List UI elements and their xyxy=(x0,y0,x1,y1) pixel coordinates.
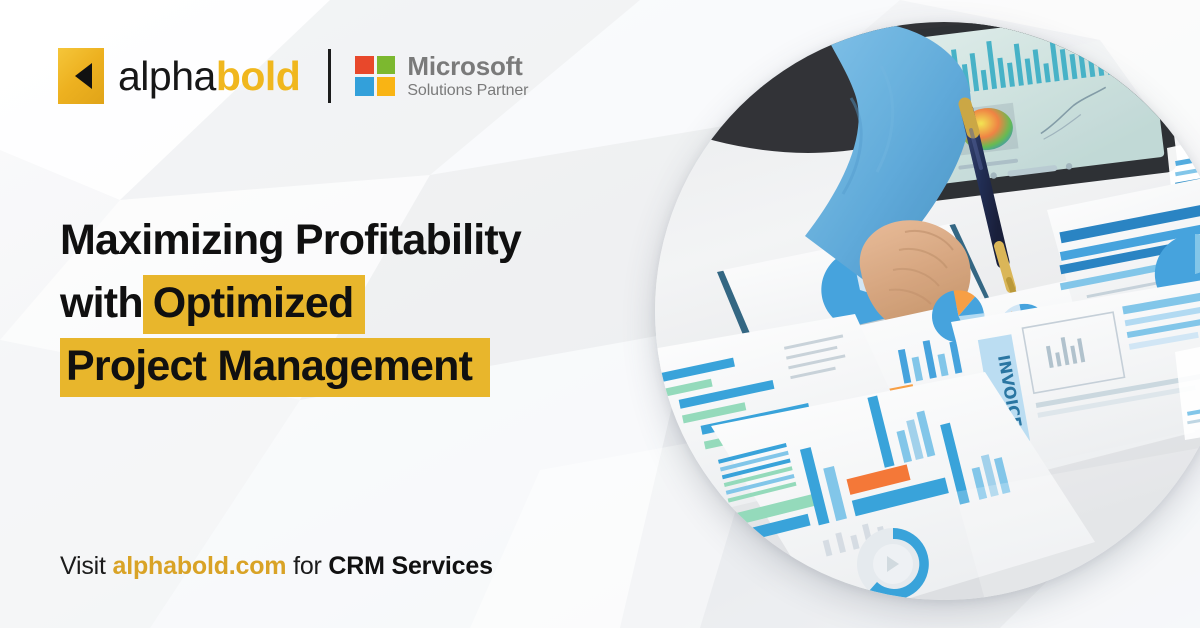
microsoft-solutions-partner-badge: Microsoft Solutions Partner xyxy=(355,52,528,99)
cta-text: Visit alphabold.com for CRM Services xyxy=(60,552,493,581)
cta-link[interactable]: alphabold.com xyxy=(113,552,287,580)
logo-divider xyxy=(328,49,331,103)
cta-prefix: Visit xyxy=(60,552,113,580)
alphabold-mark-icon xyxy=(58,48,104,104)
cta-middle: for xyxy=(286,552,328,580)
headline-line-1: Maximizing Profitability xyxy=(60,212,680,271)
headline-line-2: with Optimized xyxy=(60,275,680,334)
hero-photo-illustration: INVOICE xyxy=(655,22,1200,600)
header-logo-lockup: alphabold Microsoft Solutions Partner xyxy=(58,48,528,104)
microsoft-badge-text: Microsoft Solutions Partner xyxy=(407,52,528,99)
microsoft-square-yellow xyxy=(377,77,396,96)
wordmark-bold: bold xyxy=(216,53,301,99)
microsoft-subtitle: Solutions Partner xyxy=(407,82,528,100)
hero-photo: INVOICE xyxy=(655,22,1200,600)
alphabold-wordmark: alphabold xyxy=(118,56,300,97)
headline: Maximizing Profitability with Optimized … xyxy=(60,212,680,401)
microsoft-square-red xyxy=(355,56,374,75)
headline-line-1-text: Maximizing Profitability xyxy=(60,212,521,271)
headline-line-3: Project Management xyxy=(60,338,680,397)
microsoft-logo-icon xyxy=(355,56,395,96)
wordmark-alpha: alpha xyxy=(118,53,216,99)
microsoft-square-green xyxy=(377,56,396,75)
microsoft-title: Microsoft xyxy=(407,52,528,81)
microsoft-square-blue xyxy=(355,77,374,96)
alphabold-logo[interactable]: alphabold xyxy=(58,48,300,104)
headline-line-2-highlight: Optimized xyxy=(143,275,366,334)
headline-line-3-highlight: Project Management xyxy=(60,338,490,397)
marketing-banner: alphabold Microsoft Solutions Partner Ma… xyxy=(0,0,1200,628)
headline-line-2-plain: with xyxy=(60,275,143,334)
cta-service: CRM Services xyxy=(328,552,492,580)
